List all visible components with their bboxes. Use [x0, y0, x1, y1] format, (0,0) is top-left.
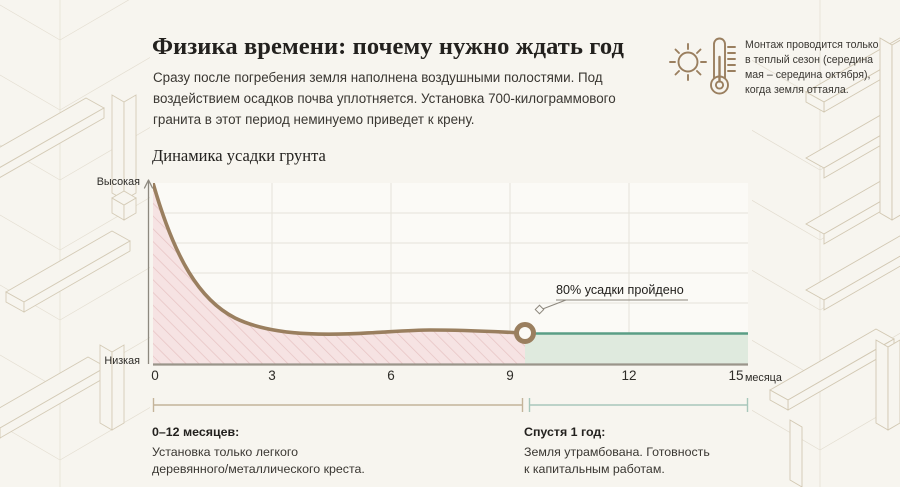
- settlement-chart: [0, 0, 900, 487]
- x-tick-3: 3: [268, 368, 276, 383]
- x-axis-unit-label: месяца: [745, 372, 782, 384]
- phase-two-caption: Спустя 1 год: Земля утрамбована. Готовно…: [524, 424, 824, 479]
- bracket-phase-two: [529, 398, 748, 412]
- x-tick-6: 6: [387, 368, 395, 383]
- x-tick-0: 0: [151, 368, 159, 383]
- y-axis-label-low: Низкая: [84, 355, 140, 367]
- chart-region-stable: [525, 333, 748, 364]
- phase-two-line2: к капитальным работам.: [524, 462, 665, 476]
- phase-one-caption: 0–12 месяцев: Установка только легкого д…: [152, 424, 482, 479]
- y-axis-label-high: Высокая: [84, 176, 140, 188]
- chart-y-axis: [145, 180, 153, 364]
- phase-one-line1: Установка только легкого: [152, 445, 298, 459]
- bracket-phase-one: [153, 398, 523, 412]
- phase-one-heading: 0–12 месяцев:: [152, 424, 482, 442]
- x-tick-15: 15: [728, 368, 743, 383]
- chart-annotation-label: 80% усадки пройдено: [556, 283, 684, 297]
- phase-two-heading: Спустя 1 год:: [524, 424, 824, 442]
- phase-one-line2: деревянного/металлического креста.: [152, 462, 365, 476]
- x-tick-9: 9: [506, 368, 514, 383]
- x-tick-12: 12: [621, 368, 636, 383]
- infographic-root: Физика времени: почему нужно ждать год С…: [0, 0, 900, 487]
- phase-two-line1: Земля утрамбована. Готовность: [524, 445, 710, 459]
